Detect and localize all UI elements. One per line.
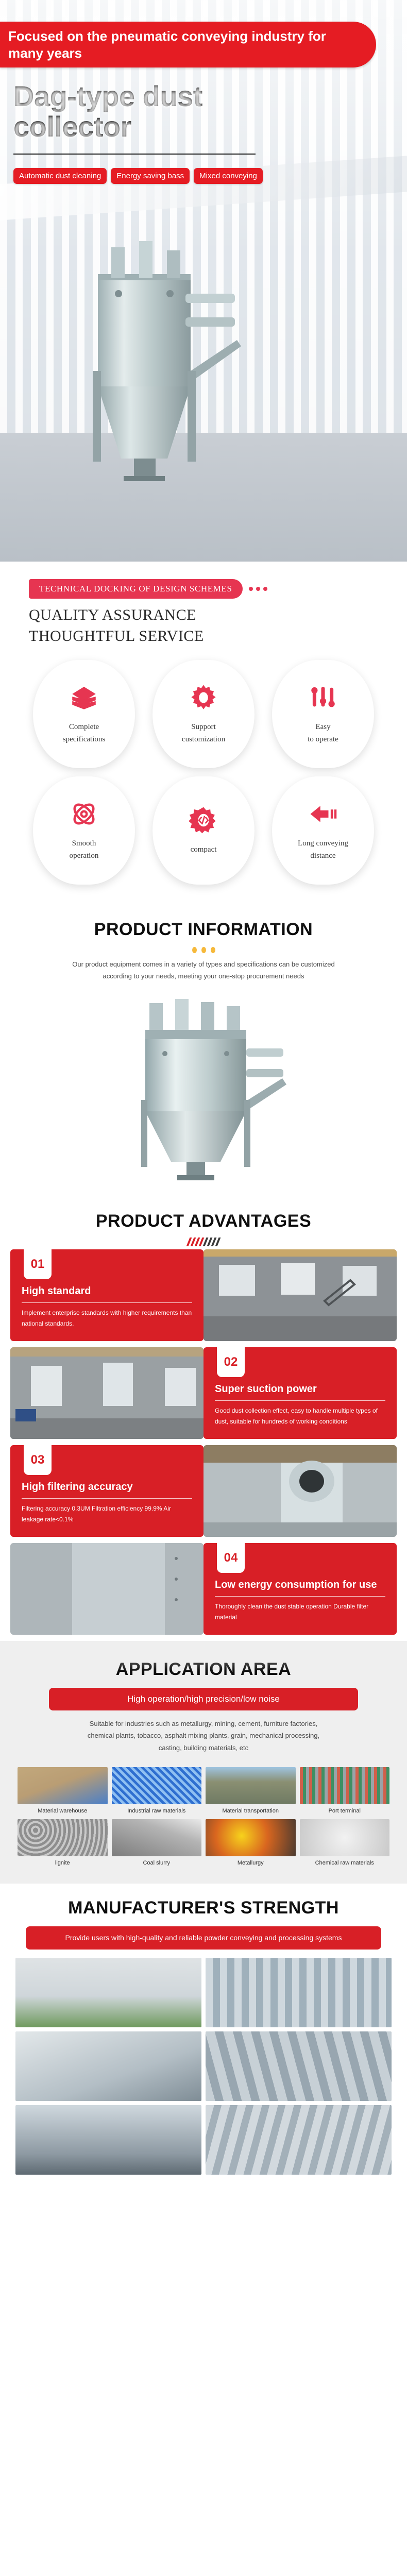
arrow-left-icon — [309, 800, 337, 831]
atom-icon — [70, 800, 98, 831]
feature-label: Long conveying distance — [298, 837, 348, 862]
feature-label-line1: Long conveying — [298, 839, 348, 848]
quality-heading-line1: QUALITY ASSURANCE — [29, 606, 196, 623]
hero-title-line2: collector — [13, 110, 131, 143]
hero-divider — [13, 154, 256, 155]
feature-card-compact[interactable]: compact — [152, 776, 255, 885]
advantage-row-04: 04 Low energy consumption for use Thorou… — [10, 1543, 397, 1635]
advantage-title: Low energy consumption for use — [215, 1579, 385, 1591]
technical-docking-tag: TECHNICAL DOCKING OF DESIGN SCHEMES — [29, 579, 243, 599]
application-caption: Chemical raw materials — [300, 1860, 390, 1866]
application-area-section: APPLICATION AREA High operation/high pre… — [0, 1641, 407, 1884]
hero-eyebrow: Focused on the pneumatic conveying indus… — [0, 22, 376, 67]
product-information-section: PRODUCT INFORMATION Our product equipmen… — [0, 905, 407, 1197]
advantage-row-02: 02 Super suction power Good dust collect… — [10, 1347, 397, 1439]
feature-card-easy-to-operate[interactable]: Easy to operate — [272, 660, 374, 768]
feature-label: Complete specifications — [63, 721, 105, 745]
advantage-number: 03 — [24, 1445, 52, 1475]
application-item[interactable]: lignite — [18, 1819, 108, 1866]
product-info-line1: Our product equipment comes in a variety… — [72, 960, 334, 968]
advantage-text: Filtering accuracy 0.3UM Filtration effi… — [22, 1503, 192, 1525]
feature-label: Easy to operate — [308, 721, 338, 745]
hero-title-line1: Dag-type dust — [13, 80, 202, 112]
page-title: Dag-type dust collector — [13, 81, 394, 142]
advantage-card-01[interactable]: 01 High standard Implement enterprise st… — [10, 1249, 203, 1341]
yellow-dots-icon — [0, 947, 407, 953]
feature-card-long-conveying-distance[interactable]: Long conveying distance — [272, 776, 374, 885]
dust-collector-hero-image — [62, 216, 247, 505]
product-information-description: Our product equipment comes in a variety… — [23, 958, 384, 987]
advantage-title: High filtering accuracy — [22, 1481, 192, 1493]
manufacturer-photo-grid — [0, 1950, 407, 2190]
metallurgy-thumb — [206, 1819, 296, 1856]
advantage-photo-01 — [203, 1249, 397, 1341]
application-item[interactable]: Material transportation — [206, 1767, 296, 1814]
quality-assurance-heading: QUALITY ASSURANCE THOUGHTFUL SERVICE — [10, 605, 397, 647]
feature-label-line2: specifications — [63, 735, 105, 743]
advantage-row-01: 01 High standard Implement enterprise st… — [10, 1249, 397, 1341]
feature-label-line1: Support — [191, 723, 216, 731]
sliders-icon — [309, 683, 337, 715]
application-item[interactable]: Port terminal — [300, 1767, 390, 1814]
advantage-divider — [22, 1302, 192, 1303]
advantage-divider — [215, 1400, 385, 1401]
chemical-raw-materials-thumb — [300, 1819, 390, 1856]
advantage-row-03: 03 High filtering accuracy Filtering acc… — [10, 1445, 397, 1537]
advantage-text: Implement enterprise standards with high… — [22, 1308, 192, 1329]
gear-icon — [189, 683, 218, 715]
manufacturer-banner: Provide users with high-quality and reli… — [26, 1926, 381, 1950]
application-caption: Metallurgy — [206, 1860, 296, 1866]
feature-label-line2: operation — [70, 852, 99, 860]
advantage-text: Good dust collection effect, easy to han… — [215, 1405, 385, 1427]
finished-units-photo — [206, 2105, 392, 2175]
feature-card-complete-specifications[interactable]: Complete specifications — [33, 660, 135, 768]
storage-tanks-photo — [206, 1958, 392, 2027]
application-banner: High operation/high precision/low noise — [49, 1688, 358, 1710]
advantage-photo-04 — [10, 1543, 203, 1635]
assembly-line-photo — [15, 2031, 201, 2101]
lignite-thumb — [18, 1819, 108, 1856]
advantage-divider — [215, 1596, 385, 1597]
application-caption: Industrial raw materials — [112, 1808, 202, 1814]
application-item[interactable]: Chemical raw materials — [300, 1819, 390, 1866]
application-description: Suitable for industries such as metallur… — [23, 1710, 384, 1758]
advantage-card-02[interactable]: 02 Super suction power Good dust collect… — [203, 1347, 397, 1439]
slash-divider-icon — [0, 1238, 407, 1246]
advantage-number: 04 — [217, 1543, 245, 1573]
feature-label: Smooth operation — [70, 837, 99, 862]
advantage-number: 01 — [24, 1249, 52, 1279]
advantage-photo-03 — [203, 1445, 397, 1537]
advantage-card-04[interactable]: 04 Low energy consumption for use Thorou… — [203, 1543, 397, 1635]
coal-slurry-thumb — [112, 1819, 202, 1856]
port-terminal-thumb — [300, 1767, 390, 1804]
application-item[interactable]: Metallurgy — [206, 1819, 296, 1866]
manufacturer-strength-section: MANUFACTURER'S STRENGTH Provide users wi… — [0, 1884, 407, 2190]
advantage-card-03[interactable]: 03 High filtering accuracy Filtering acc… — [10, 1445, 203, 1537]
product-information-heading: PRODUCT INFORMATION — [0, 905, 407, 940]
industrial-raw-materials-thumb — [112, 1767, 202, 1804]
feature-card-support-customization[interactable]: Support customization — [152, 660, 255, 768]
feature-oval-grid: Complete specifications Support customiz… — [10, 647, 397, 900]
hero-pill-1: Automatic dust cleaning — [13, 168, 107, 184]
workshop-floor-photo — [15, 1958, 201, 2027]
feature-label: Support customization — [182, 721, 225, 745]
feature-label-line1: Easy — [315, 723, 330, 731]
application-area-heading: APPLICATION AREA — [0, 1656, 407, 1680]
hero-pill-3: Mixed conveying — [194, 168, 263, 184]
application-desc-line1: Suitable for industries such as metallur… — [90, 1720, 318, 1727]
application-caption: Material warehouse — [18, 1808, 108, 1814]
application-desc-line2: chemical plants, tobacco, asphalt mixing… — [88, 1732, 319, 1739]
application-item[interactable]: Coal slurry — [112, 1819, 202, 1866]
material-transportation-thumb — [206, 1767, 296, 1804]
application-caption: Material transportation — [206, 1808, 296, 1814]
application-desc-line3: casting, building materials, etc — [159, 1744, 248, 1752]
application-thumbnail-grid: Material warehouse Industrial raw materi… — [0, 1758, 407, 1866]
application-caption: Coal slurry — [112, 1860, 202, 1866]
gear-code-icon — [189, 806, 218, 837]
advantage-photo-02 — [10, 1347, 203, 1439]
hero-feature-pills: Automatic dust cleaning Energy saving ba… — [13, 168, 394, 184]
application-item[interactable]: Industrial raw materials — [112, 1767, 202, 1814]
feature-label-line2: customization — [182, 735, 225, 743]
technical-docking-tag-row: TECHNICAL DOCKING OF DESIGN SCHEMES — [10, 579, 397, 599]
application-item[interactable]: Material warehouse — [18, 1767, 108, 1814]
advantage-title: High standard — [22, 1285, 192, 1297]
hero-pill-2: Energy saving bass — [111, 168, 190, 184]
feature-card-smooth-operation[interactable]: Smooth operation — [33, 776, 135, 885]
quality-heading-line2: THOUGHTFUL SERVICE — [29, 628, 204, 645]
application-caption: lignite — [18, 1860, 108, 1866]
manufacturer-heading: MANUFACTURER'S STRENGTH — [0, 1884, 407, 1918]
layers-icon — [70, 683, 98, 715]
product-advantages-heading: PRODUCT ADVANTAGES — [0, 1197, 407, 1231]
advantage-divider — [22, 1498, 192, 1499]
product-photo — [118, 992, 289, 1188]
advantage-text: Thoroughly clean the dust stable operati… — [215, 1601, 385, 1623]
advantage-title: Super suction power — [215, 1383, 385, 1395]
product-photo-wrap — [0, 987, 407, 1197]
feature-label: compact — [191, 843, 217, 856]
product-info-line2: according to your needs, meeting your on… — [103, 972, 304, 980]
silo-yard-photo — [15, 2105, 201, 2175]
feature-label-line1: Complete — [69, 723, 99, 731]
feature-label-line2: distance — [310, 852, 335, 860]
product-advantages-section: PRODUCT ADVANTAGES 01 High standard Impl… — [0, 1197, 407, 1635]
equipment-row-photo — [206, 2031, 392, 2101]
material-warehouse-thumb — [18, 1767, 108, 1804]
feature-label-line2: to operate — [308, 735, 338, 743]
application-caption: Port terminal — [300, 1808, 390, 1814]
quality-assurance-section: TECHNICAL DOCKING OF DESIGN SCHEMES QUAL… — [0, 562, 407, 905]
tag-dots-icon — [249, 587, 267, 591]
advantage-number: 02 — [217, 1347, 245, 1377]
hero-banner: Focused on the pneumatic conveying indus… — [0, 0, 407, 562]
feature-label-line1: Smooth — [72, 839, 96, 848]
feature-label-line1: compact — [191, 845, 217, 854]
